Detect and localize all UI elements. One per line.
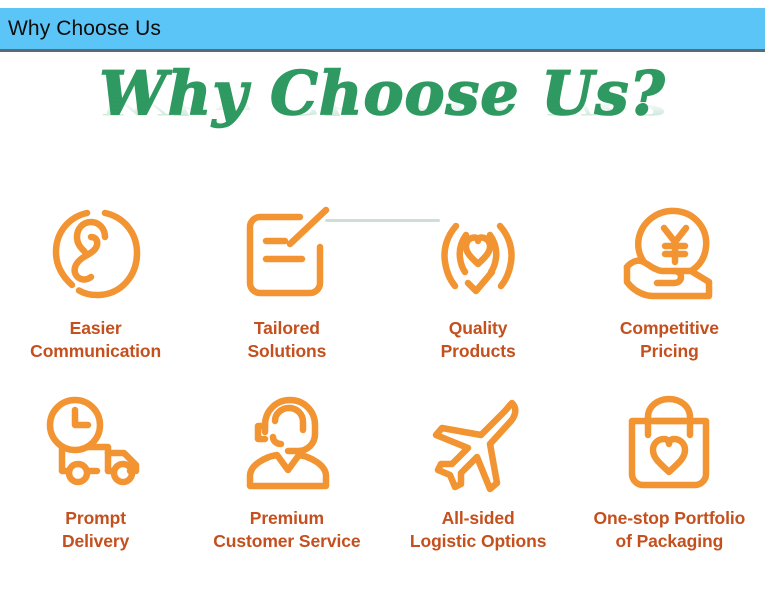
feature-item-all-sided-logistic-options[interactable]: All-sided Logistic Options xyxy=(383,386,574,576)
feature-item-easier-communication[interactable]: Easier Communication xyxy=(0,196,191,386)
ear-listening-icon xyxy=(50,196,142,311)
feature-label: Easier Communication xyxy=(30,317,161,364)
feature-label: One-stop Portfolio of Packaging xyxy=(593,507,745,554)
feature-item-one-stop-portfolio-of-packaging[interactable]: One-stop Portfolio of Packaging xyxy=(574,386,765,576)
airplane-icon xyxy=(428,386,528,501)
hero-title-wrap: Why Choose Us? Why Choose Us? xyxy=(0,64,765,178)
feature-label: Tailored Solutions xyxy=(247,317,326,364)
feature-item-premium-customer-service[interactable]: Premium Customer Service xyxy=(191,386,382,576)
hand-yen-coin-icon xyxy=(617,196,721,311)
shopping-bag-heart-icon xyxy=(620,386,718,501)
hero-title-reflection: Why Choose Us? xyxy=(99,93,665,118)
window-header-bar: Why Choose Us xyxy=(0,8,765,52)
document-pencil-icon xyxy=(238,196,336,311)
feature-label: All-sided Logistic Options xyxy=(410,507,546,554)
feature-item-prompt-delivery[interactable]: Prompt Delivery xyxy=(0,386,191,576)
heart-signal-check-icon xyxy=(428,196,528,311)
feature-label: Prompt Delivery xyxy=(62,507,129,554)
headset-agent-icon xyxy=(236,386,338,501)
feature-item-tailored-solutions[interactable]: Tailored Solutions xyxy=(191,196,382,386)
truck-clock-icon xyxy=(42,386,150,501)
feature-grid: Easier Communication Tailored Solutions xyxy=(0,196,765,576)
feature-label: Premium Customer Service xyxy=(213,507,360,554)
feature-item-quality-products[interactable]: Quality Products xyxy=(383,196,574,386)
page-title: Why Choose Us xyxy=(0,17,161,41)
feature-label: Quality Products xyxy=(441,317,516,364)
feature-item-competitive-pricing[interactable]: Competitive Pricing xyxy=(574,196,765,386)
feature-label: Competitive Pricing xyxy=(620,317,719,364)
hero-banner: Why Choose Us? Why Choose Us? xyxy=(0,58,765,173)
